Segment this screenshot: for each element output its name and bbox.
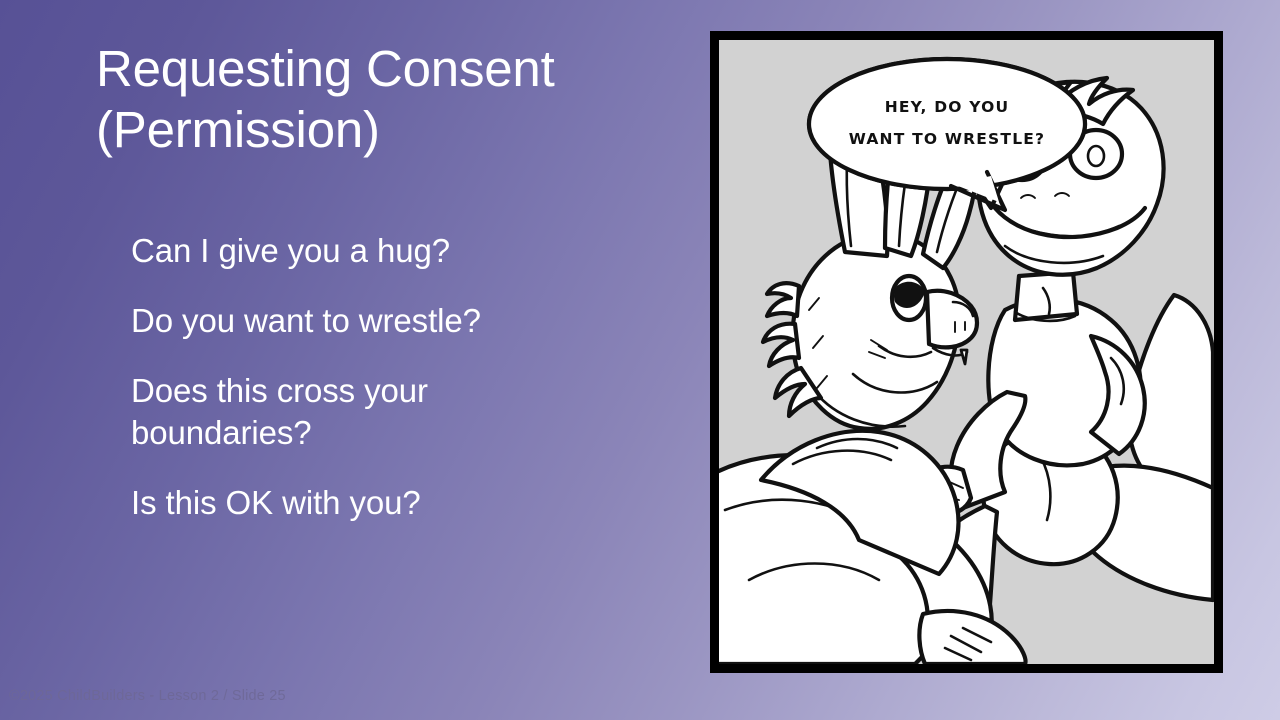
- rabbit-eye: [892, 276, 926, 320]
- bullet-list: Can I give you a hug? Do you want to wre…: [131, 230, 611, 552]
- speech-bubble-line-2: WANT TO WRESTLE?: [849, 130, 1046, 148]
- list-item: Does this cross your boundaries?: [131, 370, 611, 454]
- slide-background: Requesting Consent (Permission) Can I gi…: [0, 0, 1280, 720]
- comic-panel-inner: .ink { fill:none; stroke:#111; stroke-wi…: [719, 40, 1214, 664]
- footer-copyright: ©2025 ChildBuilders - Lesson 2 / Slide 2…: [9, 688, 286, 704]
- comic-illustration: .ink { fill:none; stroke:#111; stroke-wi…: [719, 40, 1214, 664]
- list-item: Can I give you a hug?: [131, 230, 611, 272]
- list-item: Is this OK with you?: [131, 482, 611, 524]
- page-title: Requesting Consent (Permission): [96, 38, 696, 160]
- comic-panel-frame: .ink { fill:none; stroke:#111; stroke-wi…: [710, 31, 1223, 673]
- list-item: Do you want to wrestle?: [131, 300, 611, 342]
- speech-bubble-line-1: HEY, DO YOU: [885, 98, 1010, 116]
